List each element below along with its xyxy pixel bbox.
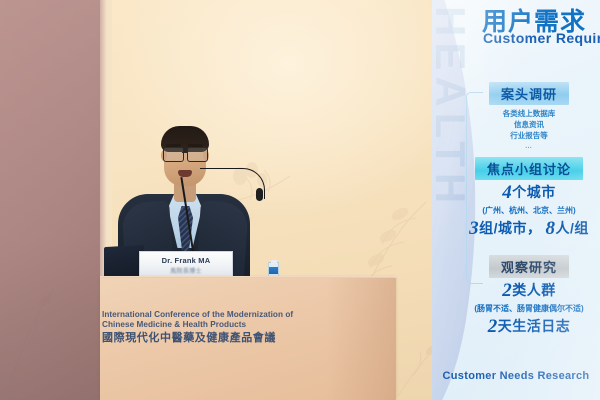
conference-title-cn: 國際現代化中醫藥及健康產品會議	[102, 332, 352, 345]
nameplate-name: Dr. Frank MA	[140, 256, 232, 265]
slide-title-en: Customer Require	[483, 30, 600, 46]
conference-photo: HEALTH 用户需求 Customer Require 案头调研 各类线上数据…	[0, 0, 600, 400]
lens-left	[163, 147, 184, 162]
stat-unit: 组/城市，	[479, 220, 541, 236]
stat-cities: 4个城市	[458, 182, 600, 204]
nameplate: Dr. Frank MA 馬院長博士	[139, 251, 233, 278]
glasses-bridge	[182, 152, 187, 153]
conference-title-en-line1: International Conference of the Moderniz…	[102, 310, 352, 320]
stat-unit: 人/组	[556, 220, 589, 236]
stat-groups-people: 2类人群	[458, 280, 600, 302]
nameplate-subtitle: 馬院長博士	[140, 266, 232, 275]
detail-line: 行业报告等	[458, 131, 600, 142]
mouth	[178, 170, 192, 177]
slide-block-desk-research: 案头调研 各类线上数据库 信息资讯 行业报告等 …	[458, 82, 600, 152]
block-detail-lines: 各类线上数据库 信息资讯 行业报告等 …	[458, 109, 600, 152]
stat-number: 2	[488, 316, 498, 337]
laptop	[104, 245, 144, 279]
detail-line: 信息资讯	[458, 120, 600, 131]
bottle-label	[269, 267, 278, 274]
stat-unit: 天生活日志	[498, 318, 571, 334]
stat-number: 2	[502, 280, 512, 301]
block-band-label: 观察研究	[489, 255, 569, 278]
detail-ellipsis: …	[458, 142, 600, 152]
detail-line: 各类线上数据库	[458, 109, 600, 120]
conference-title-en-line2: Chinese Medicine & Health Products	[102, 320, 352, 330]
slide-footer-label: Customer Needs Research	[432, 370, 600, 382]
slide-block-observational: 观察研究 2类人群 (肠胃不适、肠胃健康偶尔不适) 2天生活日志	[458, 255, 600, 338]
microphone-head-icon	[256, 188, 263, 201]
slide-content: 用户需求 Customer Require 案头调研 各类线上数据库 信息资讯 …	[432, 0, 600, 400]
left-wall-shading	[0, 0, 104, 400]
stat-diary-days: 2天生活日志	[458, 316, 600, 338]
eyeglasses-icon	[162, 147, 208, 160]
stat-groups: 3组/城市，8人/组	[458, 218, 600, 240]
block-band-label: 焦点小组讨论	[475, 157, 583, 180]
block-band-label: 案头调研	[489, 82, 569, 105]
projection-screen: HEALTH 用户需求 Customer Require 案头调研 各类线上数据…	[432, 0, 600, 400]
stat-unit: 类人群	[512, 282, 556, 298]
stat-number: 3	[469, 218, 479, 239]
stat-cities-list: (广州、杭州、北京、兰州)	[458, 205, 600, 216]
stat-groups-detail: (肠胃不适、肠胃健康偶尔不适)	[458, 303, 600, 314]
stat-unit: 个城市	[512, 184, 556, 200]
lens-right	[187, 147, 208, 162]
bottle-cap	[271, 260, 277, 264]
slide-block-focus-group: 焦点小组讨论 4个城市 (广州、杭州、北京、兰州) 3组/城市，8人/组	[458, 157, 600, 240]
conference-title: International Conference of the Moderniz…	[102, 310, 352, 345]
stat-number: 4	[502, 182, 512, 203]
stat-number: 8	[546, 218, 556, 239]
